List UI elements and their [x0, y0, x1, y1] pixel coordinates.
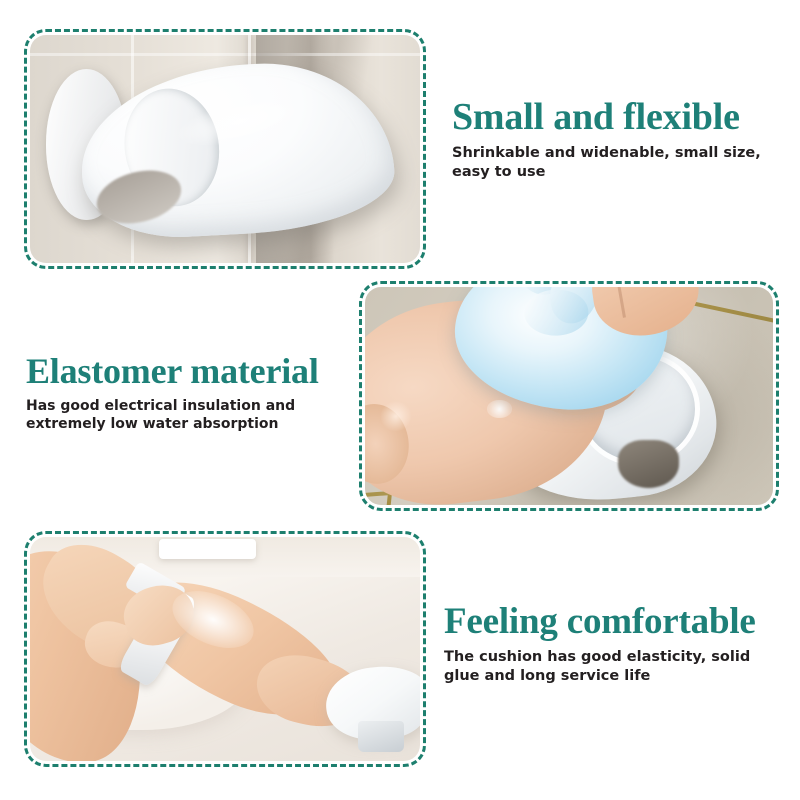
feature-description: The cushion has good elasticity, solid g… — [444, 648, 790, 686]
loofah-fold — [523, 289, 588, 337]
feature-description: Shrinkable and widenable, small size, ea… — [452, 144, 788, 182]
step-suction-cup — [618, 440, 679, 488]
feature-title: Feeling comfortable — [444, 603, 790, 641]
feature-text-small-and-flexible: Small and flexible Shrinkable and widena… — [452, 98, 788, 182]
feature-photo-frame-feeling-comfortable — [24, 531, 426, 767]
feature-title: Small and flexible — [452, 98, 788, 137]
product-photo-foot-with-loofah — [365, 287, 773, 505]
feature-description: Has good electrical insulation and extre… — [26, 397, 362, 434]
product-feature-infographic: Small and flexible Shrinkable and widena… — [0, 0, 800, 800]
water-droplet — [487, 400, 511, 417]
wall-panel — [159, 539, 257, 559]
product-photo-leg-shaving — [30, 537, 420, 761]
feature-text-feeling-comfortable: Feeling comfortable The cushion has good… — [444, 603, 790, 686]
step-suction-cup — [358, 721, 405, 752]
feature-photo-frame-small-and-flexible — [24, 29, 426, 269]
tile-grout-line-horizontal — [30, 53, 420, 56]
product-photo-step-on-tile-wall — [30, 35, 420, 263]
feature-title: Elastomer material — [26, 353, 362, 390]
feature-text-elastomer-material: Elastomer material Has good electrical i… — [26, 353, 362, 434]
feature-photo-frame-elastomer-material — [359, 281, 779, 511]
